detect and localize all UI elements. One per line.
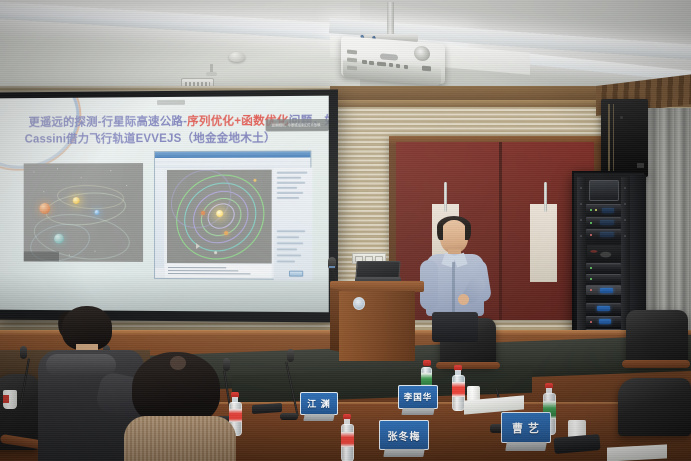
rack-display [600,288,613,293]
presenter-hair-side [437,224,443,240]
projector-vent [347,50,357,55]
panel-row [277,260,295,262]
door-glass-panel [530,204,557,282]
panel-row [277,242,303,244]
presenter-hair-side [465,224,471,240]
status-led [590,278,592,280]
star [57,168,58,169]
rack-mount-hole [624,235,626,237]
projection-screen[interactable]: 更遥远的探测-行星际高速公路-序列优化+函数优化问题，如 Cassini借力飞行… [0,96,329,313]
status-led [590,209,592,211]
bottle-label [452,382,465,397]
lectern[interactable] [330,281,424,369]
projector-lens [414,45,430,61]
status-text-line [168,270,238,271]
lectern-microphone[interactable] [328,257,336,270]
panel-row [277,254,301,256]
rack-unit[interactable] [586,274,621,284]
nameplate-stand [401,408,434,415]
slide-title-line-2: Cassini借力飞行轨道EVVEJS（地金金地木土） [25,129,276,146]
nameplate-text: 李国华 [398,385,438,409]
panel-row [277,187,297,189]
projection-screen-frame: 更遥远的探测-行星际高速公路-序列优化+函数优化问题，如 Cassini借力飞行… [0,90,338,323]
nameplate-text: 张冬梅 [379,420,429,450]
projector-port [369,61,374,65]
bottle-cap [423,360,431,366]
rack-unit[interactable] [586,285,621,295]
planet-jupiter [54,234,64,244]
audience-woman-knit-texture [124,416,236,461]
projector-port [422,66,431,72]
star [81,177,82,178]
slide-image-interplanetary-highway [24,163,143,262]
panel-row [277,230,305,232]
star [43,191,44,192]
rack-unit[interactable] [586,229,621,240]
chair-armrest [622,360,690,368]
projector-vent [347,58,357,63]
star [126,185,127,186]
rack-unit[interactable] [586,263,621,273]
nameplate-stand [505,442,547,451]
slide-image-orbit-software [154,150,311,279]
rack-unit[interactable] [586,316,621,327]
status-led [590,222,592,224]
nameplate-stand [383,449,424,457]
status-led [590,267,592,269]
presenter-shirt-placket [452,262,455,314]
door-handle[interactable] [444,182,447,212]
projector-port [389,63,393,67]
door-handle[interactable] [544,182,547,212]
institution-seal-icon [353,297,365,310]
smoke-detector-icon [229,52,245,62]
panel-row [277,192,303,194]
nameplate-text: 江 渊 [300,392,338,415]
status-led [590,321,592,323]
presenter-trousers [432,312,478,342]
nameplate-text: 曹 艺 [501,412,551,443]
projector-port [396,64,400,68]
microphone-indicator-ring [329,266,335,268]
planet-sun [73,197,80,204]
projector-port [377,62,386,67]
status-text-line [168,267,226,268]
speaker-brand-badge [637,163,644,168]
microphone-base [280,413,298,420]
rack-display [602,208,614,213]
chair-backrest [618,378,691,436]
conference-room-photo: 更遥远的探测-行星际高速公路-序列优化+函数优化问题，如 Cassini借力飞行… [0,0,691,461]
panel-row [277,182,305,184]
rack-unit[interactable] [586,303,621,314]
projector-port [404,65,408,69]
projector-vent [347,66,357,71]
lectern-front [339,291,415,361]
rack-mount-hole [624,219,626,221]
rack-mount-hole [580,219,582,221]
spacecraft-marker [214,251,217,254]
rack-display [600,220,614,225]
slide-title-part1: 更遥远的探测-行星际高速公路- [29,116,188,129]
window-tool-sidebar [155,168,164,268]
rack-mount-hole [580,235,582,237]
slide-top-marker [157,100,185,105]
rack-display [599,319,611,324]
direction-arrow-icon [196,243,200,249]
planet-marker [201,211,205,215]
panel-row [277,236,299,238]
panel-row [277,177,301,179]
bottle-label [341,432,354,447]
chair-backrest [626,310,688,366]
microphone-head [20,346,27,359]
orbit-plot-canvas [167,170,272,264]
status-led [590,289,592,291]
nameplate-stand [303,414,334,421]
panel-row [277,197,299,199]
planet-saturn [39,203,50,214]
speaker-driver [620,116,623,119]
planet-marker [224,231,228,235]
rack-unit[interactable] [586,204,621,216]
planet-marker [253,179,256,182]
sun-marker [216,210,223,217]
audience-woman-hair-part [170,356,186,370]
sprinkler-head-icon [206,72,217,76]
rack-mount-hole [580,203,582,205]
panel-row [277,172,308,174]
audience-man-shoulder [46,354,116,376]
projector-mount-pole [387,2,394,35]
star [110,170,111,171]
rack-monitor [589,180,619,201]
star [33,171,34,172]
microphone-head [287,349,294,362]
rack-mount-hole [580,187,582,189]
chair-armrest [436,362,500,369]
paper-document[interactable] [607,444,667,461]
cup-band [3,395,9,403]
rack-mount-hole [624,187,626,189]
slide-image-caption [24,252,59,262]
audience-member-woman [118,352,248,461]
speaker-trim-stripe [608,104,610,172]
presenter-right-hand [458,294,469,305]
rack-display [600,232,614,237]
rack-display [597,306,610,311]
status-led [590,234,592,236]
slideshow-notice-bar: 放映期间，中断或结束幻灯片放映 [266,119,329,131]
panel-row [277,248,297,250]
planet-earth [94,210,99,215]
status-led [595,209,597,211]
projector-port [362,60,367,64]
rack-cable-bundle [587,245,621,261]
speaker-trim-stripe [613,104,614,172]
rack-unit[interactable] [586,217,621,228]
window-parameter-panel [274,168,313,281]
rack-mount-hole [624,203,626,205]
